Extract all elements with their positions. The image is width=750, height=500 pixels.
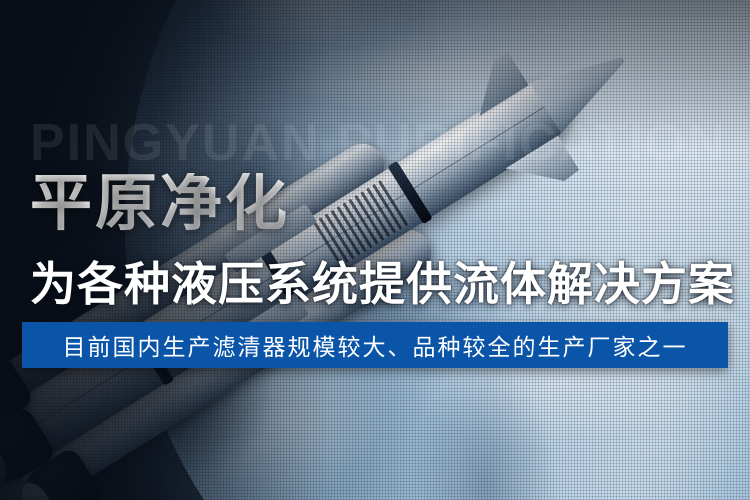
hero-banner: PINGYUAN PURIFICATION 平原净化 为各种液压系统提供流体解决… xyxy=(0,0,750,500)
banner-content: PINGYUAN PURIFICATION 平原净化 为各种液压系统提供流体解决… xyxy=(0,0,750,500)
banner-subtitle: 为各种液压系统提供流体解决方案 xyxy=(30,258,735,311)
tagline-text: 目前国内生产滤清器规模较大、品种较全的生产厂家之一 xyxy=(63,328,688,362)
pinyin-watermark: PINGYUAN PURIFICATION xyxy=(30,113,727,173)
company-name-title: 平原净化 xyxy=(30,173,290,235)
tagline-ribbon: 目前国内生产滤清器规模较大、品种较全的生产厂家之一 xyxy=(22,322,728,368)
